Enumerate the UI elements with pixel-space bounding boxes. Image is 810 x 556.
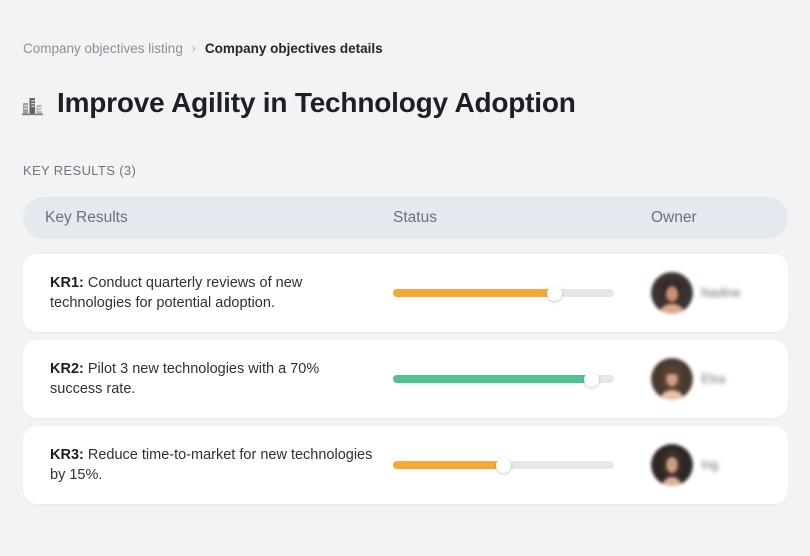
table-row[interactable]: KR1: Conduct quarterly reviews of new te… xyxy=(23,254,788,332)
status-cell xyxy=(393,289,651,297)
progress-knob[interactable] xyxy=(584,372,599,387)
key-results-table: Key Results Status Owner KR1: Conduct qu… xyxy=(23,197,788,512)
avatar xyxy=(651,358,693,400)
breadcrumb: Company objectives listing › Company obj… xyxy=(23,40,383,57)
key-result-text-cell: KR3: Reduce time-to-market for new techn… xyxy=(23,445,393,485)
progress-fill xyxy=(393,461,504,469)
page-title-row: Improve Agility in Technology Adoption xyxy=(20,66,576,140)
company-building-icon xyxy=(20,92,46,118)
avatar xyxy=(651,444,693,486)
table-body: KR1: Conduct quarterly reviews of new te… xyxy=(23,254,788,504)
breadcrumb-link-listing[interactable]: Company objectives listing xyxy=(23,40,183,57)
objective-details-page: Company objectives listing › Company obj… xyxy=(0,0,810,556)
key-result-tag: KR2: xyxy=(50,361,84,377)
column-header-key-results: Key Results xyxy=(23,209,393,227)
breadcrumb-current-details: Company objectives details xyxy=(205,40,383,57)
progress-slider[interactable] xyxy=(393,375,614,383)
owner-cell: Nadine xyxy=(651,272,788,314)
table-header-row: Key Results Status Owner xyxy=(23,197,788,239)
page-title: Improve Agility in Technology Adoption xyxy=(57,85,576,121)
owner-name: Ing xyxy=(701,458,718,472)
key-result-description: Conduct quarterly reviews of new technol… xyxy=(50,275,302,311)
key-result-text-cell: KR2: Pilot 3 new technologies with a 70%… xyxy=(23,359,393,399)
status-cell xyxy=(393,461,651,469)
key-results-section-label: KEY RESULTS (3) xyxy=(23,163,136,178)
key-result-description: Reduce time-to-market for new technologi… xyxy=(50,447,372,483)
table-row[interactable]: KR2: Pilot 3 new technologies with a 70%… xyxy=(23,340,788,418)
owner-cell: Elsa xyxy=(651,358,788,400)
key-result-text-cell: KR1: Conduct quarterly reviews of new te… xyxy=(23,273,393,313)
key-result-tag: KR1: xyxy=(50,275,84,291)
owner-name: Elsa xyxy=(701,372,725,386)
progress-knob[interactable] xyxy=(496,458,511,473)
status-cell xyxy=(393,375,651,383)
chevron-right-icon: › xyxy=(192,42,196,54)
owner-name: Nadine xyxy=(701,286,741,300)
column-header-status: Status xyxy=(393,209,651,227)
key-result-tag: KR3: xyxy=(50,447,84,463)
avatar xyxy=(651,272,693,314)
progress-fill xyxy=(393,289,554,297)
progress-knob[interactable] xyxy=(547,286,562,301)
progress-slider[interactable] xyxy=(393,289,614,297)
column-header-owner: Owner xyxy=(651,209,788,227)
table-row[interactable]: KR3: Reduce time-to-market for new techn… xyxy=(23,426,788,504)
key-result-description: Pilot 3 new technologies with a 70% succ… xyxy=(50,361,319,397)
progress-slider[interactable] xyxy=(393,461,614,469)
progress-fill xyxy=(393,375,592,383)
owner-cell: Ing xyxy=(651,444,788,486)
